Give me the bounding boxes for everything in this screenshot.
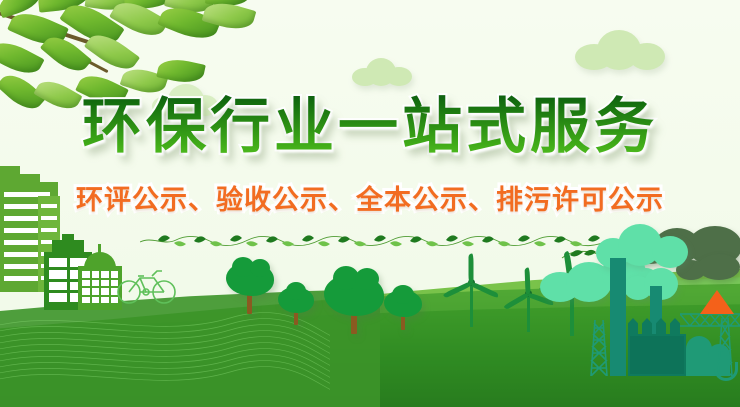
banner-title: 环保行业一站式服务 bbox=[0, 92, 740, 162]
eco-industry-banner: 环保行业一站式服务 环保行业一站式服务 环评公示、验收公示、全本公示、排污许可公… bbox=[0, 0, 740, 407]
lattice-tower-left bbox=[588, 320, 610, 380]
tree-4 bbox=[383, 288, 423, 330]
bicycle-icon bbox=[116, 262, 178, 306]
wind-turbine-1 bbox=[444, 265, 504, 327]
vine-leaf-divider bbox=[140, 232, 610, 248]
tree-3 bbox=[323, 272, 385, 334]
banner-subtitle: 环评公示、验收公示、全本公示、排污许可公示 bbox=[0, 184, 740, 218]
tree-2 bbox=[277, 285, 315, 325]
orange-triangle-accent bbox=[700, 290, 734, 314]
pale-cloud-large bbox=[575, 30, 665, 70]
tree-1 bbox=[224, 262, 276, 314]
banner-subtitle-wrap: 环评公示、验收公示、全本公示、排污许可公示 环评公示、验收公示、全本公示、排污许… bbox=[0, 184, 740, 218]
pale-cloud-small bbox=[352, 58, 412, 86]
factory-with-smokestacks bbox=[588, 236, 740, 376]
